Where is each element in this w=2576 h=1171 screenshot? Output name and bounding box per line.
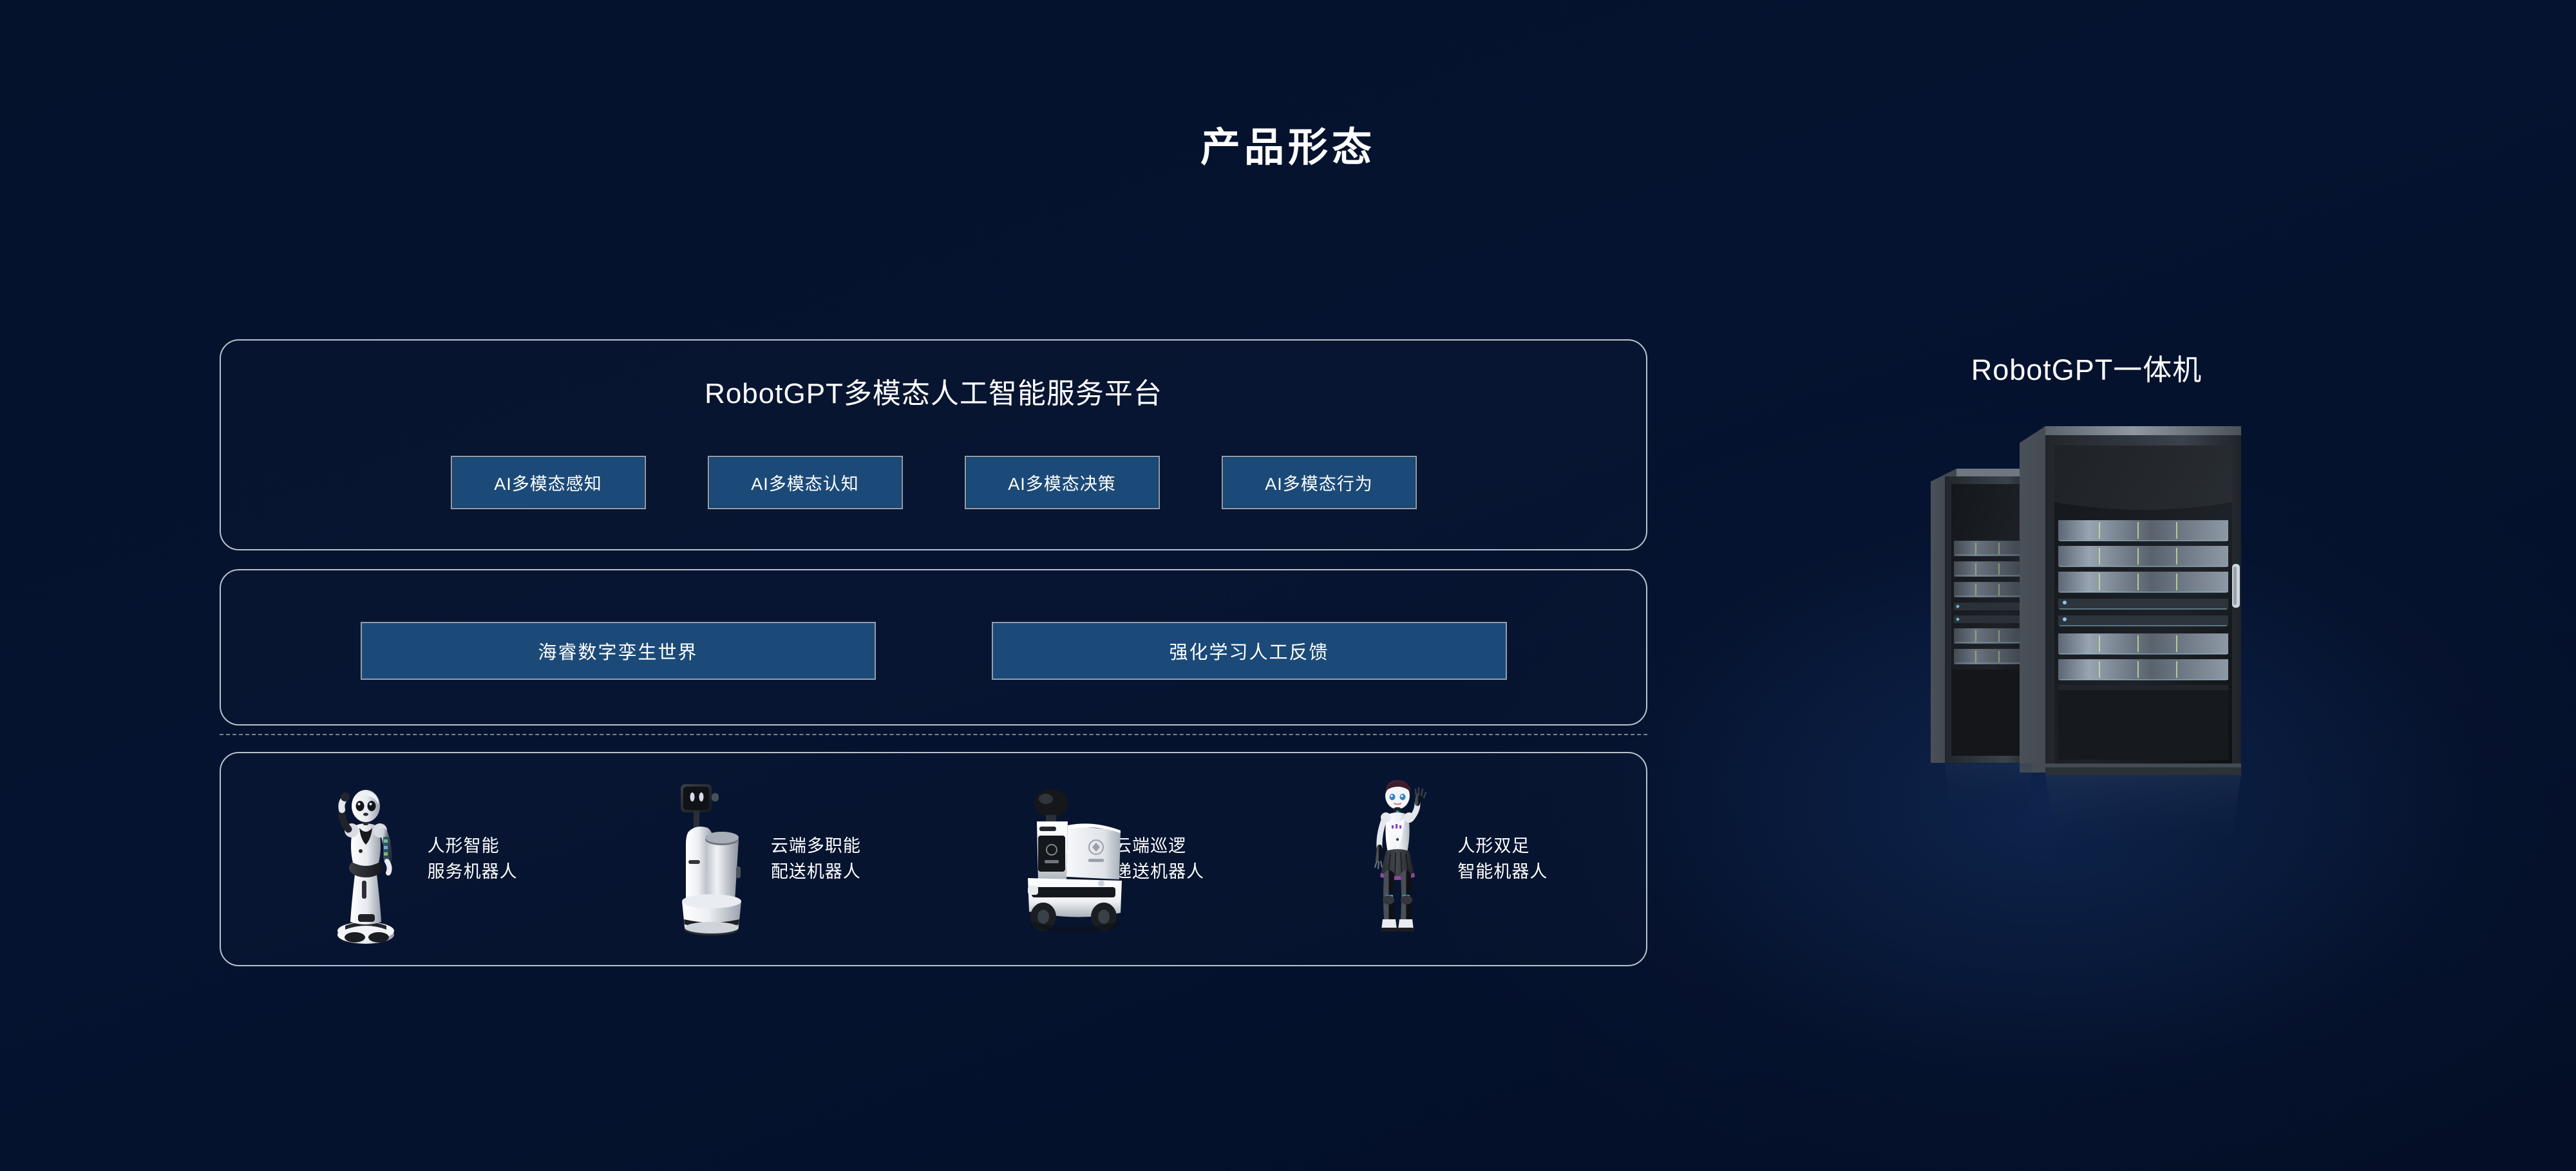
bar-rlhf[interactable]: 强化学习人工反馈	[992, 622, 1507, 680]
robot-item-bipedal-humanoid[interactable]: 人形双足 智能机器人	[1349, 773, 1548, 946]
robot-item-humanoid-service[interactable]: 人形智能 服务机器人	[319, 773, 518, 946]
engine-bar-row: 海睿数字孪生世界 强化学习人工反馈	[221, 622, 1646, 680]
robots-card: 人形智能 服务机器人	[220, 752, 1647, 966]
robot-row: 人形智能 服务机器人	[221, 753, 1646, 965]
chip-decision[interactable]: AI多模态决策	[965, 456, 1160, 509]
appliance-title: RobotGPT一体机	[1868, 346, 2306, 388]
bar-digital-twin[interactable]: 海睿数字孪生世界	[361, 622, 876, 680]
front-cabinet	[2020, 426, 2241, 775]
robot-label-line1: 人形双足	[1457, 834, 1548, 859]
platform-chip-row: AI多模态感知 AI多模态认知 AI多模态决策 AI多模态行为	[221, 456, 1646, 509]
chip-cognition[interactable]: AI多模态认知	[708, 456, 903, 509]
bipedal-humanoid-robot-icon	[1349, 773, 1446, 946]
robot-label-cloud-delivery: 云端多职能 配送机器人	[771, 834, 861, 884]
humanoid-service-robot-icon	[319, 773, 416, 946]
rear-cabinet	[1931, 469, 2032, 763]
robot-label-line2: 智能机器人	[1457, 859, 1548, 885]
robot-label-line1: 云端多职能	[771, 834, 861, 859]
robot-label-bipedal-humanoid: 人形双足 智能机器人	[1457, 834, 1548, 884]
chip-behavior[interactable]: AI多模态行为	[1222, 456, 1417, 509]
slide-background: 产品形态 RobotGPT多模态人工智能服务平台 AI多模态感知 AI多模态认知…	[0, 0, 2576, 1171]
cloud-delivery-robot-icon	[663, 773, 759, 946]
section-divider	[220, 734, 1647, 735]
engine-card: 海睿数字孪生世界 强化学习人工反馈	[220, 569, 1647, 726]
platform-card-title: RobotGPT多模态人工智能服务平台	[221, 370, 1646, 411]
robot-label-humanoid-service: 人形智能 服务机器人	[428, 834, 518, 884]
robot-item-cloud-patrol[interactable]: 云端巡逻 递送机器人	[1006, 773, 1204, 946]
page-title: 产品形态	[0, 115, 2576, 173]
robot-label-line2: 服务机器人	[428, 859, 518, 885]
platform-card: RobotGPT多模态人工智能服务平台 AI多模态感知 AI多模态认知 AI多模…	[220, 339, 1647, 550]
robot-label-line1: 人形智能	[428, 834, 518, 859]
robot-item-cloud-delivery[interactable]: 云端多职能 配送机器人	[663, 773, 861, 946]
cloud-patrol-robot-icon	[1006, 773, 1103, 946]
robot-label-line2: 配送机器人	[771, 859, 861, 885]
chip-perception[interactable]: AI多模态感知	[451, 456, 646, 509]
server-rack-icon	[1906, 412, 2267, 991]
